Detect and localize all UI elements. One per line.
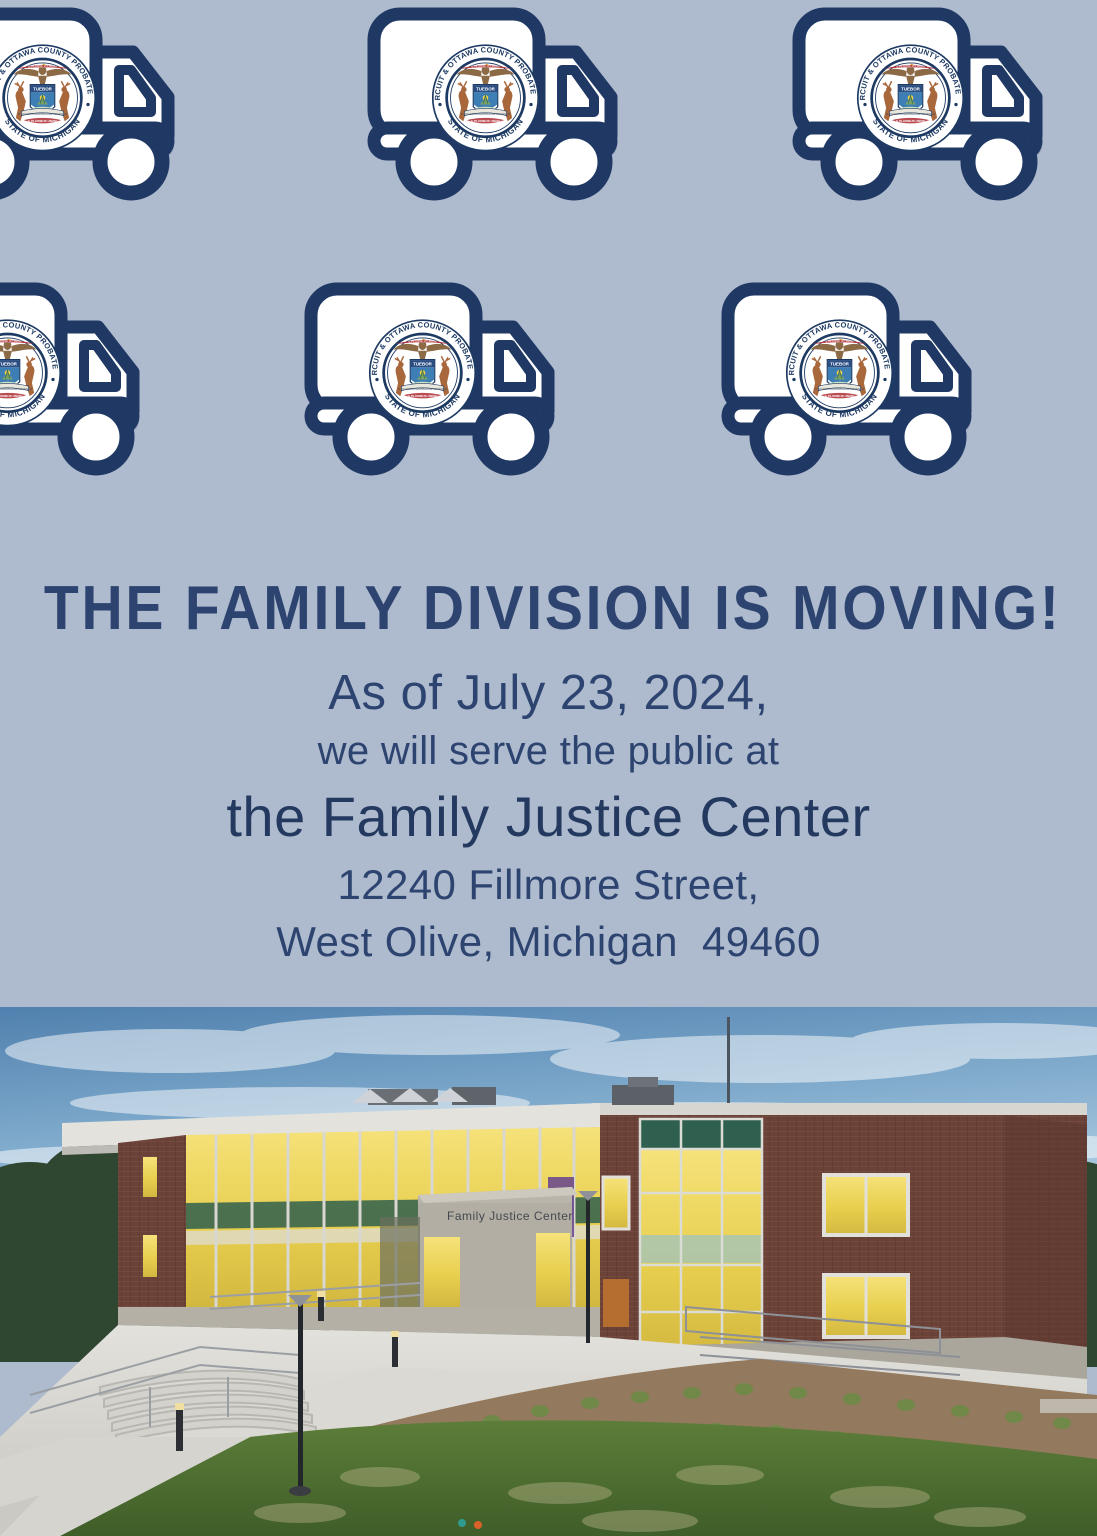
building-photo: Family Justice Center [0,1007,1097,1536]
building-photo-illustration: Family Justice Center [0,1007,1097,1536]
page-title: THE FAMILY DIVISION IS MOVING! [44,540,1053,640]
effective-date-line: As of July 23, 2024, [0,666,1097,721]
svg-text:E PLURIBUS UNUM: E PLURIBUS UNUM [825,340,854,344]
truck-icon: 20TH CIRCUIT & OTTAWA COUNTY PROBATE COU… [305,283,605,498]
svg-text:SI QUAERIS PENINSULAM AMOENAM: SI QUAERIS PENINSULAM AMOENAM [397,387,447,391]
seal-on-truck: 20TH CIRCUIT & OTTAWA COUNTY PROBATE COU… [430,42,541,154]
bollard-light [175,1403,184,1451]
truck-wheel [543,131,605,193]
svg-text:E PLURIBUS UNUM: E PLURIBUS UNUM [28,65,57,69]
truck-wheel [100,131,162,193]
svg-text:TUEBOR: TUEBOR [33,87,53,92]
svg-text:TUEBOR: TUEBOR [413,362,433,367]
address-line-1: 12240 Fillmore Street, [0,861,1097,908]
truck-wheel [897,406,959,468]
truck-pattern-band: 20TH CIRCUIT & OTTAWA COUNTY PROBATE COU… [0,0,1097,540]
svg-text:E PLURIBUS UNUM: E PLURIBUS UNUM [471,65,500,69]
svg-text:TUEBOR: TUEBOR [476,87,496,92]
poster-text-block: THE FAMILY DIVISION IS MOVING! As of Jul… [0,540,1097,965]
svg-text:E PLURIBUS UNUM: E PLURIBUS UNUM [28,119,57,123]
seal-on-truck: 20TH CIRCUIT & OTTAWA COUNTY PROBATE COU… [0,317,63,429]
venue-name: the Family Justice Center [0,786,1097,848]
svg-text:E PLURIBUS UNUM: E PLURIBUS UNUM [896,65,925,69]
state-seal: 20TH CIRCUIT & OTTAWA COUNTY PROBATE COU… [855,42,966,154]
truck-icon: 20TH CIRCUIT & OTTAWA COUNTY PROBATE COU… [0,283,190,498]
state-seal: 20TH CIRCUIT & OTTAWA COUNTY PROBATE COU… [430,42,541,154]
svg-text:E PLURIBUS UNUM: E PLURIBUS UNUM [471,119,500,123]
state-seal: 20TH CIRCUIT & OTTAWA COUNTY PROBATE COU… [0,317,63,429]
seal-on-truck: 20TH CIRCUIT & OTTAWA COUNTY PROBATE COU… [0,42,98,154]
svg-text:TUEBOR: TUEBOR [901,87,921,92]
svg-text:E PLURIBUS UNUM: E PLURIBUS UNUM [896,119,925,123]
bollard-light [317,1291,325,1321]
seal-on-truck: 20TH CIRCUIT & OTTAWA COUNTY PROBATE COU… [855,42,966,154]
truck-icon: 20TH CIRCUIT & OTTAWA COUNTY PROBATE COU… [793,8,1093,223]
svg-text:SI QUAERIS PENINSULAM AMOENAM: SI QUAERIS PENINSULAM AMOENAM [17,112,67,116]
svg-text:SI QUAERIS PENINSULAM AMOENAM: SI QUAERIS PENINSULAM AMOENAM [0,387,32,391]
state-seal: 20TH CIRCUIT & OTTAWA COUNTY PROBATE COU… [784,317,895,429]
svg-text:E PLURIBUS UNUM: E PLURIBUS UNUM [0,340,22,344]
seal-on-truck: 20TH CIRCUIT & OTTAWA COUNTY PROBATE COU… [784,317,895,429]
truck-icon: 20TH CIRCUIT & OTTAWA COUNTY PROBATE COU… [0,8,225,223]
poster-root: 20TH CIRCUIT & OTTAWA COUNTY PROBATE COU… [0,0,1097,1536]
svg-text:SI QUAERIS PENINSULAM AMOENAM: SI QUAERIS PENINSULAM AMOENAM [460,112,510,116]
ground-marker [474,1521,482,1529]
address-line-2: West Olive, Michigan 49460 [0,918,1097,965]
seal-on-truck: 20TH CIRCUIT & OTTAWA COUNTY PROBATE COU… [367,317,478,429]
svg-text:TUEBOR: TUEBOR [0,362,17,367]
svg-text:E PLURIBUS UNUM: E PLURIBUS UNUM [408,340,437,344]
svg-text:E PLURIBUS UNUM: E PLURIBUS UNUM [825,394,854,398]
bollard-light [391,1331,399,1367]
truck-wheel [968,131,1030,193]
svg-text:SI QUAERIS PENINSULAM AMOENAM: SI QUAERIS PENINSULAM AMOENAM [885,112,935,116]
ground-marker [458,1519,466,1527]
state-seal: 20TH CIRCUIT & OTTAWA COUNTY PROBATE COU… [0,42,98,154]
building-name-sign: Family Justice Center [447,1209,573,1223]
serve-line: we will serve the public at [0,729,1097,774]
state-seal: 20TH CIRCUIT & OTTAWA COUNTY PROBATE COU… [367,317,478,429]
svg-text:E PLURIBUS UNUM: E PLURIBUS UNUM [408,394,437,398]
truck-icon: 20TH CIRCUIT & OTTAWA COUNTY PROBATE COU… [722,283,1022,498]
svg-text:TUEBOR: TUEBOR [830,362,850,367]
brick-wing [592,1077,1087,1379]
truck-wheel [65,406,127,468]
svg-text:SI QUAERIS PENINSULAM AMOENAM: SI QUAERIS PENINSULAM AMOENAM [814,387,864,391]
svg-text:E PLURIBUS UNUM: E PLURIBUS UNUM [0,394,22,398]
truck-wheel [480,406,542,468]
truck-icon: 20TH CIRCUIT & OTTAWA COUNTY PROBATE COU… [368,8,668,223]
